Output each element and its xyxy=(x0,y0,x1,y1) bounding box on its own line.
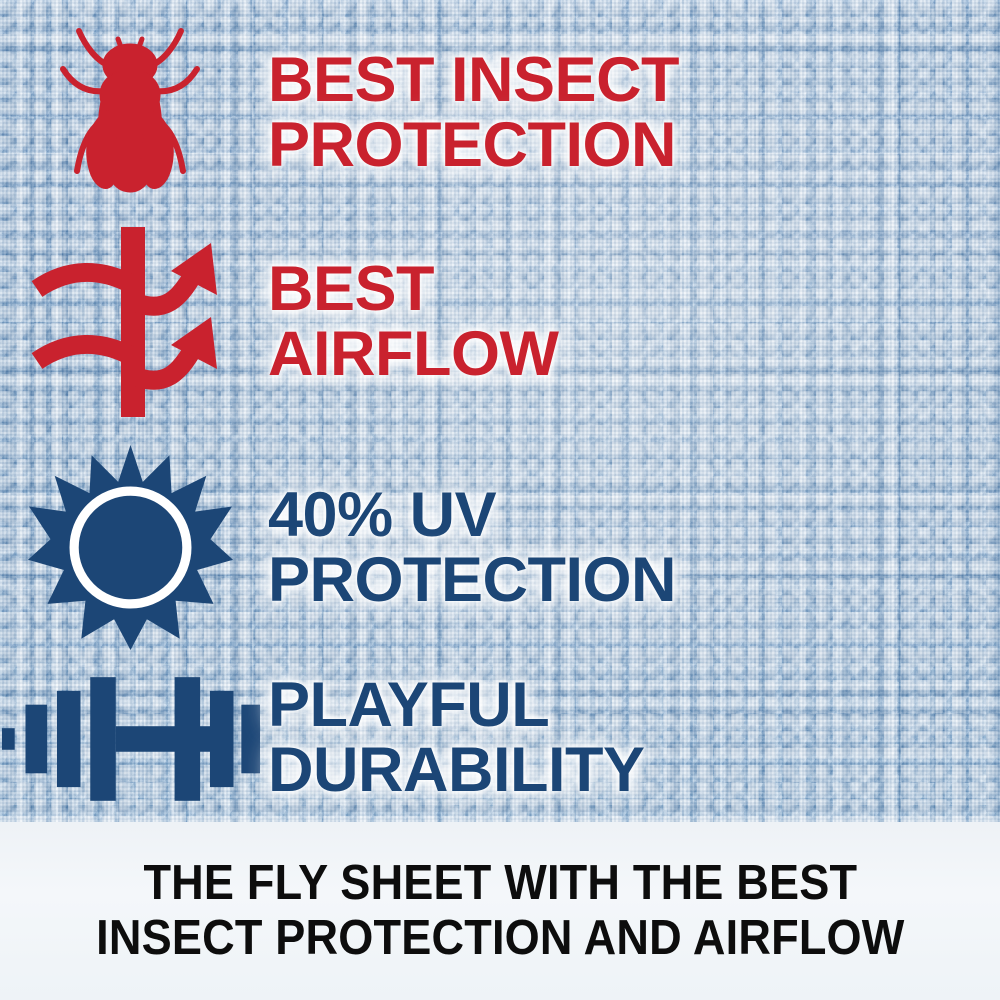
feature-row-airflow: BEST AIRFLOW xyxy=(0,222,1000,422)
feature-label-insect-protection: BEST INSECT PROTECTION xyxy=(268,48,1000,178)
feature-icon-cell xyxy=(0,445,260,650)
sun-rays xyxy=(28,445,233,650)
feature-text-cell: 40% UV PROTECTION xyxy=(260,483,1000,613)
product-feature-poster: BEST INSECT PROTECTION xyxy=(0,0,1000,1000)
sun-uv-icon xyxy=(28,445,233,650)
feature-icon-cell xyxy=(0,227,260,417)
feature-row-durability: PLAYFUL DURABILITY xyxy=(0,655,1000,820)
feature-text-cell: PLAYFUL DURABILITY xyxy=(260,673,1000,803)
airflow-icon xyxy=(25,227,235,417)
caption-bar: THE FLY SHEET WITH THE BEST INSECT PROTE… xyxy=(0,822,1000,1000)
fly-icon xyxy=(55,23,205,203)
dumbbell-icon xyxy=(0,668,260,808)
feature-row-insect-protection: BEST INSECT PROTECTION xyxy=(0,10,1000,215)
feature-row-uv-protection: 40% UV PROTECTION xyxy=(0,440,1000,655)
feature-icon-cell xyxy=(0,668,260,808)
airflow-wave-left-lower xyxy=(37,344,129,361)
airflow-arrow-lower xyxy=(137,317,217,380)
airflow-barrier-bar xyxy=(121,227,145,417)
feature-text-cell: BEST AIRFLOW xyxy=(260,257,1000,387)
feature-label-durability: PLAYFUL DURABILITY xyxy=(268,673,1000,803)
caption-headline: THE FLY SHEET WITH THE BEST INSECT PROTE… xyxy=(96,856,904,966)
feature-label-airflow: BEST AIRFLOW xyxy=(268,257,1000,387)
feature-text-cell: BEST INSECT PROTECTION xyxy=(260,48,1000,178)
feature-icon-cell xyxy=(0,23,260,203)
feature-label-uv-protection: 40% UV PROTECTION xyxy=(268,483,1000,613)
airflow-arrow-upper xyxy=(137,243,217,306)
airflow-wave-left-upper xyxy=(37,272,129,289)
